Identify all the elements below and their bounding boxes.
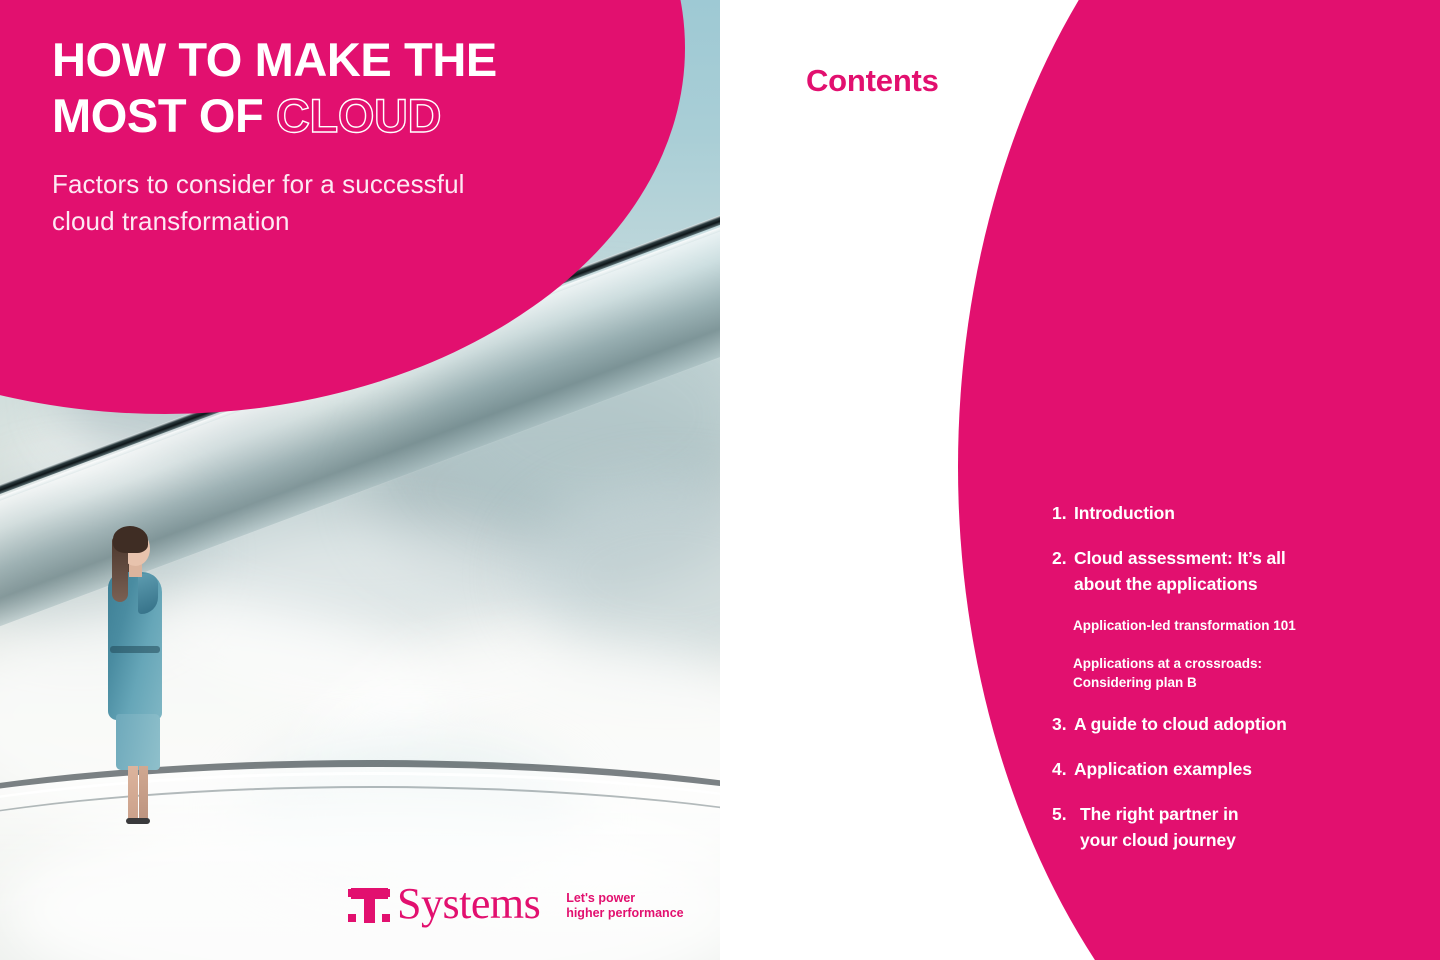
document-spread: HOW TO MAKE THE MOST OF CLOUD Factors to… <box>0 0 1440 960</box>
toc-item-number: 5. <box>1052 801 1077 853</box>
brand-claim-line2: higher performance <box>566 906 683 920</box>
cover-subtitle-line2: cloud transformation <box>52 206 290 236</box>
toc-item-number: 4. <box>1052 756 1074 782</box>
brand-claim: Let's power higher performance <box>566 891 683 921</box>
toc-item-label: A guide to cloud adoption <box>1074 711 1287 737</box>
cover-page: HOW TO MAKE THE MOST OF CLOUD Factors to… <box>0 0 720 960</box>
toc-item[interactable]: 5.The right partner inyour cloud journey <box>1052 801 1382 853</box>
contents-heading: Contents <box>806 63 939 99</box>
t-systems-wordmark: Systems <box>397 884 540 924</box>
toc-item-label: Application examples <box>1074 756 1252 782</box>
toc-subitem[interactable]: Applications at a crossroads:Considering… <box>1073 654 1382 692</box>
toc-item-label: Introduction <box>1074 500 1175 526</box>
cover-subtitle-line1: Factors to consider for a successful <box>52 169 465 199</box>
cover-title: HOW TO MAKE THE MOST OF CLOUD <box>52 32 652 144</box>
contents-page: Contents 1.Introduction2.Cloud assessmen… <box>720 0 1440 960</box>
table-of-contents: 1.Introduction2.Cloud assessment: It’s a… <box>1052 500 1382 872</box>
cover-title-line1: HOW TO MAKE THE <box>52 33 497 86</box>
toc-item-number: 3. <box>1052 711 1074 737</box>
toc-item[interactable]: 3.A guide to cloud adoption <box>1052 711 1382 737</box>
toc-item[interactable]: 4.Application examples <box>1052 756 1382 782</box>
toc-item-number: 1. <box>1052 500 1074 526</box>
cover-subtitle: Factors to consider for a successful clo… <box>52 166 652 240</box>
cover-title-line2-solid: MOST OF <box>52 89 263 142</box>
toc-subitem[interactable]: Application-led transformation 101 <box>1073 616 1382 635</box>
toc-item[interactable]: 2.Cloud assessment: It’s allabout the ap… <box>1052 545 1382 597</box>
t-systems-logo: Systems Let's power higher performance <box>348 884 684 924</box>
telekom-t-icon <box>348 884 390 924</box>
brand-claim-line1: Let's power <box>566 891 635 905</box>
cover-title-block: HOW TO MAKE THE MOST OF CLOUD Factors to… <box>52 32 652 240</box>
cover-title-line2-outline: CLOUD <box>276 89 441 142</box>
toc-item-number: 2. <box>1052 545 1074 597</box>
woman-figure <box>98 528 174 824</box>
toc-item-label: Cloud assessment: It’s allabout the appl… <box>1074 545 1286 597</box>
toc-item-label: The right partner inyour cloud journey <box>1077 801 1238 853</box>
toc-item[interactable]: 1.Introduction <box>1052 500 1382 526</box>
